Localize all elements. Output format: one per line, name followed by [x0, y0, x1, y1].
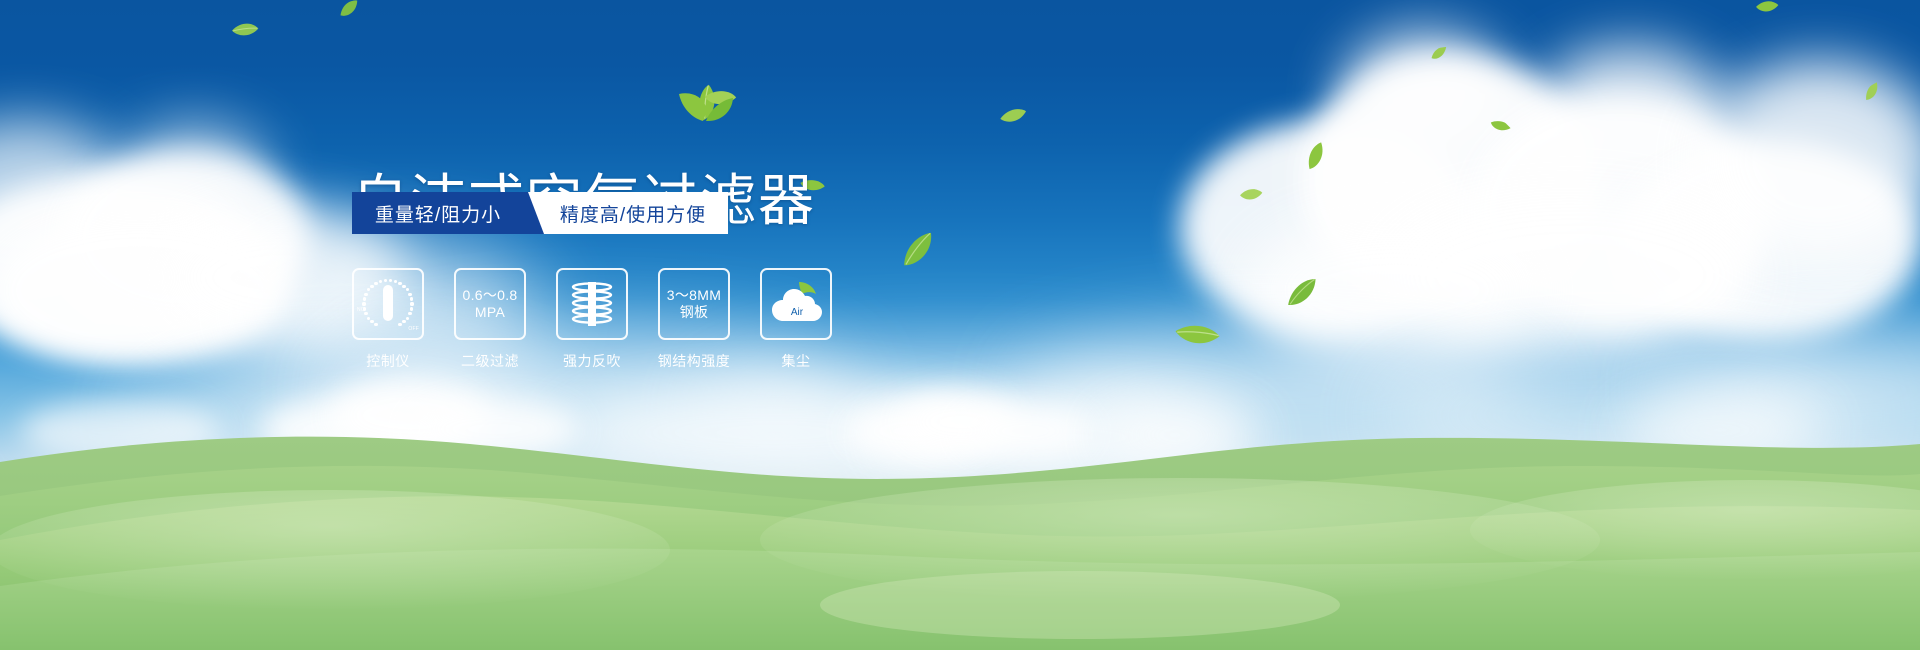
dial-pointer — [383, 285, 393, 321]
dial-tick — [408, 293, 411, 296]
dial-tick — [379, 280, 382, 283]
feature-box-text: 0.6～0.8 MPA — [462, 287, 517, 321]
title-leaf-icon — [676, 88, 734, 122]
cloud-air-text: Air — [791, 307, 804, 318]
dial-tick — [367, 288, 370, 291]
feature-backflush[interactable]: 强力反吹 — [556, 268, 628, 371]
feature-two-stage-filter[interactable]: 0.6～0.8 MPA 二级过滤 — [454, 268, 526, 371]
tag-row: 重量轻/阻力小 精度高/使用方便 — [352, 192, 728, 234]
dial-tick — [374, 282, 377, 285]
feature-steel-strength[interactable]: 3～8MM 钢板 钢结构强度 — [658, 268, 730, 371]
feature-label: 钢结构强度 — [658, 351, 731, 371]
dial-tick — [402, 320, 405, 323]
dial-knob-icon: NO OFF — [360, 276, 416, 332]
feature-row: NO OFF 控制仪 0.6～0.8 MPA 二级过滤 — [352, 268, 832, 371]
dial-tick — [406, 288, 409, 291]
feature-label: 集尘 — [782, 351, 811, 371]
dial-tick — [363, 307, 366, 310]
feature-box-line1: 0.6～0.8 — [462, 287, 517, 304]
feature-label: 二级过滤 — [461, 351, 519, 371]
dial-label-off: OFF — [408, 326, 419, 332]
feature-box-line1: 3～8MM — [667, 287, 721, 304]
feature-box-line2: MPA — [462, 304, 517, 321]
dial-tick — [370, 285, 373, 288]
cloud-air-icon: Air — [769, 280, 823, 328]
feature-label: 控制仪 — [366, 351, 410, 371]
tag-precision-convenience[interactable]: 精度高/使用方便 — [528, 192, 728, 234]
feature-box-text: 3～8MM 钢板 — [667, 287, 721, 321]
dial-tick — [370, 320, 373, 323]
dial-tick — [374, 323, 377, 326]
dial-tick — [384, 279, 387, 282]
banner-hero: 自洁式空气过滤器 重量轻/阻力小 精度高/使用方便 NO OFF — [0, 0, 1920, 650]
coil-filter-icon — [567, 278, 617, 330]
feature-box: 3～8MM 钢板 — [658, 268, 730, 340]
dial-tick — [364, 293, 367, 296]
dial-tick — [364, 312, 367, 315]
dial-tick — [406, 317, 409, 320]
dial-tick — [389, 279, 392, 282]
feature-dust-collection[interactable]: Air 集尘 — [760, 268, 832, 371]
feature-label: 强力反吹 — [563, 351, 621, 371]
dial-tick — [410, 307, 413, 310]
feature-controller[interactable]: NO OFF 控制仪 — [352, 268, 424, 371]
feature-box: NO OFF — [352, 268, 424, 340]
dial-tick — [410, 297, 413, 300]
tag-label: 重量轻/阻力小 — [375, 200, 501, 227]
feature-box: Air — [760, 268, 832, 340]
feature-box: 0.6～0.8 MPA — [454, 268, 526, 340]
feature-box — [556, 268, 628, 340]
dial-tick — [398, 323, 401, 326]
dial-tick — [394, 280, 397, 283]
dial-tick — [363, 297, 366, 300]
banner-content: 自洁式空气过滤器 重量轻/阻力小 精度高/使用方便 NO OFF — [0, 0, 1920, 650]
dial-tick — [398, 282, 401, 285]
tag-weight-resistance[interactable]: 重量轻/阻力小 — [352, 192, 528, 234]
dial-tick — [362, 302, 365, 305]
dial-tick — [408, 312, 411, 315]
feature-box-line2: 钢板 — [667, 304, 721, 321]
tag-label: 精度高/使用方便 — [560, 200, 706, 227]
dial-tick — [402, 285, 405, 288]
dial-tick — [367, 317, 370, 320]
dial-tick — [410, 302, 413, 305]
